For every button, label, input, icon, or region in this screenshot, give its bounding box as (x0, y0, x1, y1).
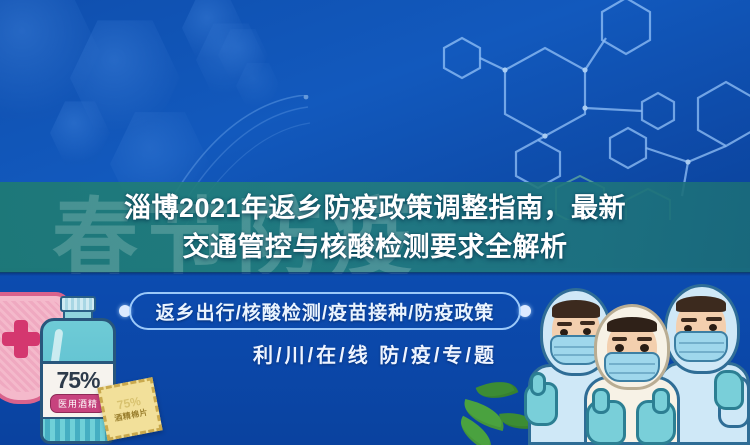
bottle-highlight (51, 329, 64, 366)
medical-cross-icon (2, 320, 40, 358)
bottle-label-text: 医用酒精 (50, 394, 106, 413)
hexagon-blob-5 (50, 100, 110, 166)
headline-line-1: 淄博2021年返乡防疫政策调整指南，最新 (52, 189, 698, 228)
alcohol-wipe-stamp: 75% 酒精棉片 (97, 377, 162, 441)
medical-workers-illustration (528, 268, 750, 445)
poster-image: 春节防疫 淄博2021年返乡防疫政策调整指南，最新 交通管控与核酸检测要求全解析… (0, 0, 750, 445)
topic-tag-bar: 返乡出行/核酸检测/疫苗接种/防疫政策 (119, 292, 531, 330)
tag-bar-label: 返乡出行/核酸检测/疫苗接种/防疫政策 (129, 292, 521, 330)
worker-center (580, 304, 684, 445)
page-title: 淄博2021年返乡防疫政策调整指南，最新 交通管控与核酸检测要求全解析 (0, 189, 750, 267)
headline-line-2: 交通管控与核酸检测要求全解析 (52, 228, 698, 267)
